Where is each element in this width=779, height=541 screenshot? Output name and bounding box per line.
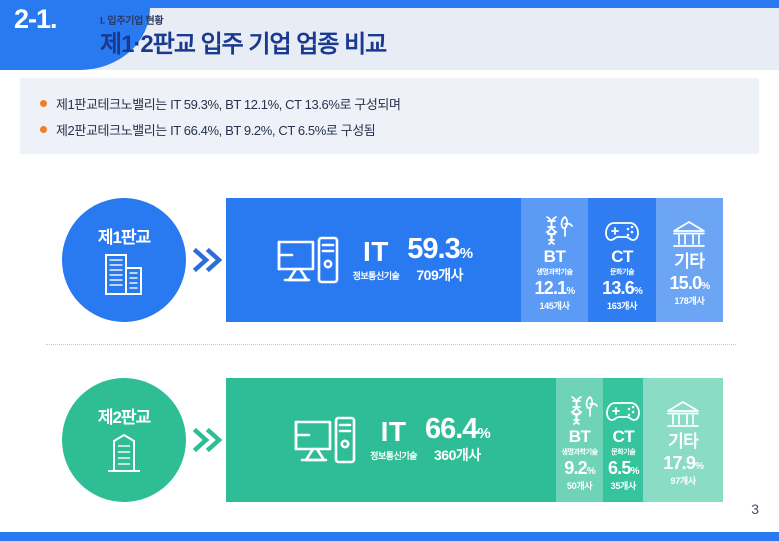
row-label-text: 제2판교: [98, 403, 150, 428]
percent-unit: %: [634, 286, 642, 297]
segment-count: 145개사: [539, 299, 569, 312]
segment-count: 97개사: [671, 474, 696, 487]
segment-full-name: 문화기술: [610, 267, 634, 277]
bullet-dot-icon: [40, 100, 47, 107]
segment-count: 50개사: [567, 479, 592, 492]
segment-full-name: 문화기술: [611, 447, 635, 457]
segment-full-name: 정보통신기술: [353, 269, 400, 282]
segment-abbr: CT: [611, 248, 633, 266]
desktop-computer-icon: [275, 232, 341, 288]
percent-unit: %: [477, 425, 489, 442]
list-item: 제1판교테크노밸리는 IT 59.3%, BT 12.1%, CT 13.6%로…: [40, 90, 759, 116]
bank-building-icon: [670, 219, 708, 251]
buildings-icon: [97, 431, 151, 477]
list-item: 제2판교테크노밸리는 IT 66.4%, BT 9.2%, CT 6.5%로 구…: [40, 116, 759, 142]
summary-bullet-text: 제1판교테크노밸리는 IT 59.3%, BT 12.1%, CT 13.6%로…: [56, 94, 401, 113]
segment-count: 360개사: [434, 445, 481, 465]
bar-segment-bt: BT 생명과학기술 12.1% 145개사: [521, 198, 589, 322]
bar-segment-etc: 기타 15.0% 178개사: [656, 198, 723, 322]
bullet-dot-icon: [40, 126, 47, 133]
slide-canvas: 2-1. I. 입주기업 현황 제1·2판교 입주 기업 업종 비교 제1판교테…: [0, 0, 779, 541]
segment-abbr: 기타: [674, 253, 704, 271]
page-title: 제1·2판교 입주 기업 업종 비교: [100, 24, 386, 59]
comparison-row-pangyo-2: 제2판교: [0, 370, 779, 510]
dna-plant-icon: [536, 214, 574, 246]
bottom-accent-rail: [0, 532, 779, 541]
gamepad-icon: [603, 214, 641, 246]
segment-abbr: BT: [569, 428, 591, 446]
slide-header: 2-1. I. 입주기업 현황 제1·2판교 입주 기업 업종 비교: [0, 8, 779, 70]
percent-unit: %: [460, 245, 472, 262]
segment-count: 178개사: [674, 294, 704, 307]
comparison-row-pangyo-1: 제1판교: [0, 190, 779, 330]
percent-unit: %: [701, 281, 709, 292]
row-label-circle: 제2판교: [62, 378, 186, 502]
segment-full-name: 생명과학기술: [561, 447, 597, 457]
bank-building-icon: [664, 399, 702, 431]
gamepad-icon: [604, 394, 642, 426]
bar-segment-it: IT 정보통신기술 59.3% 709개사: [226, 198, 521, 322]
segment-percent: 66.4%: [425, 415, 490, 444]
bar-segment-ct: CT 문화기술 6.5% 35개사: [603, 378, 643, 502]
segment-abbr: BT: [544, 248, 566, 266]
bar-segment-it: IT 정보통신기술 66.4% 360개사: [226, 378, 556, 502]
row-divider: [46, 344, 736, 345]
dna-plant-icon: [561, 394, 599, 426]
bar-segment-etc: 기타 17.9% 97개사: [643, 378, 723, 502]
summary-box: 제1판교테크노밸리는 IT 59.3%, BT 12.1%, CT 13.6%로…: [20, 78, 759, 154]
segment-count: 35개사: [611, 479, 636, 492]
segment-full-name: 정보통신기술: [370, 449, 417, 462]
segment-abbr: IT: [381, 418, 407, 446]
row-label-circle: 제1판교: [62, 198, 186, 322]
percent-unit: %: [587, 466, 595, 477]
percent-unit: %: [695, 461, 703, 472]
desktop-computer-icon: [292, 412, 358, 468]
buildings-icon: [97, 251, 151, 297]
segment-percent: 15.0%: [669, 274, 709, 294]
segment-abbr: CT: [612, 428, 634, 446]
summary-bullet-text: 제2판교테크노밸리는 IT 66.4%, BT 9.2%, CT 6.5%로 구…: [56, 120, 375, 139]
stacked-bar-pangyo-2: IT 정보통신기술 66.4% 360개사: [226, 378, 723, 502]
chevron-right-double-icon: [193, 244, 223, 276]
section-badge-label: 2-1.: [14, 4, 57, 35]
chevron-right-double-icon: [193, 424, 223, 456]
segment-percent: 9.2%: [564, 459, 595, 479]
segment-percent: 59.3%: [407, 235, 472, 264]
page-number: 3: [751, 501, 759, 517]
segment-count: 709개사: [416, 265, 463, 285]
percent-unit: %: [631, 466, 639, 477]
row-label-text: 제1판교: [98, 223, 150, 248]
segment-count: 163개사: [607, 299, 637, 312]
segment-percent: 17.9%: [663, 454, 703, 474]
percent-unit: %: [566, 286, 574, 297]
segment-abbr: 기타: [668, 433, 698, 451]
bar-segment-bt: BT 생명과학기술 9.2% 50개사: [556, 378, 603, 502]
stacked-bar-pangyo-1: IT 정보통신기술 59.3% 709개사: [226, 198, 723, 322]
bar-segment-ct: CT 문화기술 13.6% 163개사: [588, 198, 656, 322]
segment-percent: 6.5%: [608, 459, 639, 479]
segment-abbr: IT: [363, 238, 389, 266]
segment-percent: 13.6%: [602, 279, 642, 299]
segment-percent: 12.1%: [535, 279, 575, 299]
segment-full-name: 생명과학기술: [536, 267, 572, 277]
